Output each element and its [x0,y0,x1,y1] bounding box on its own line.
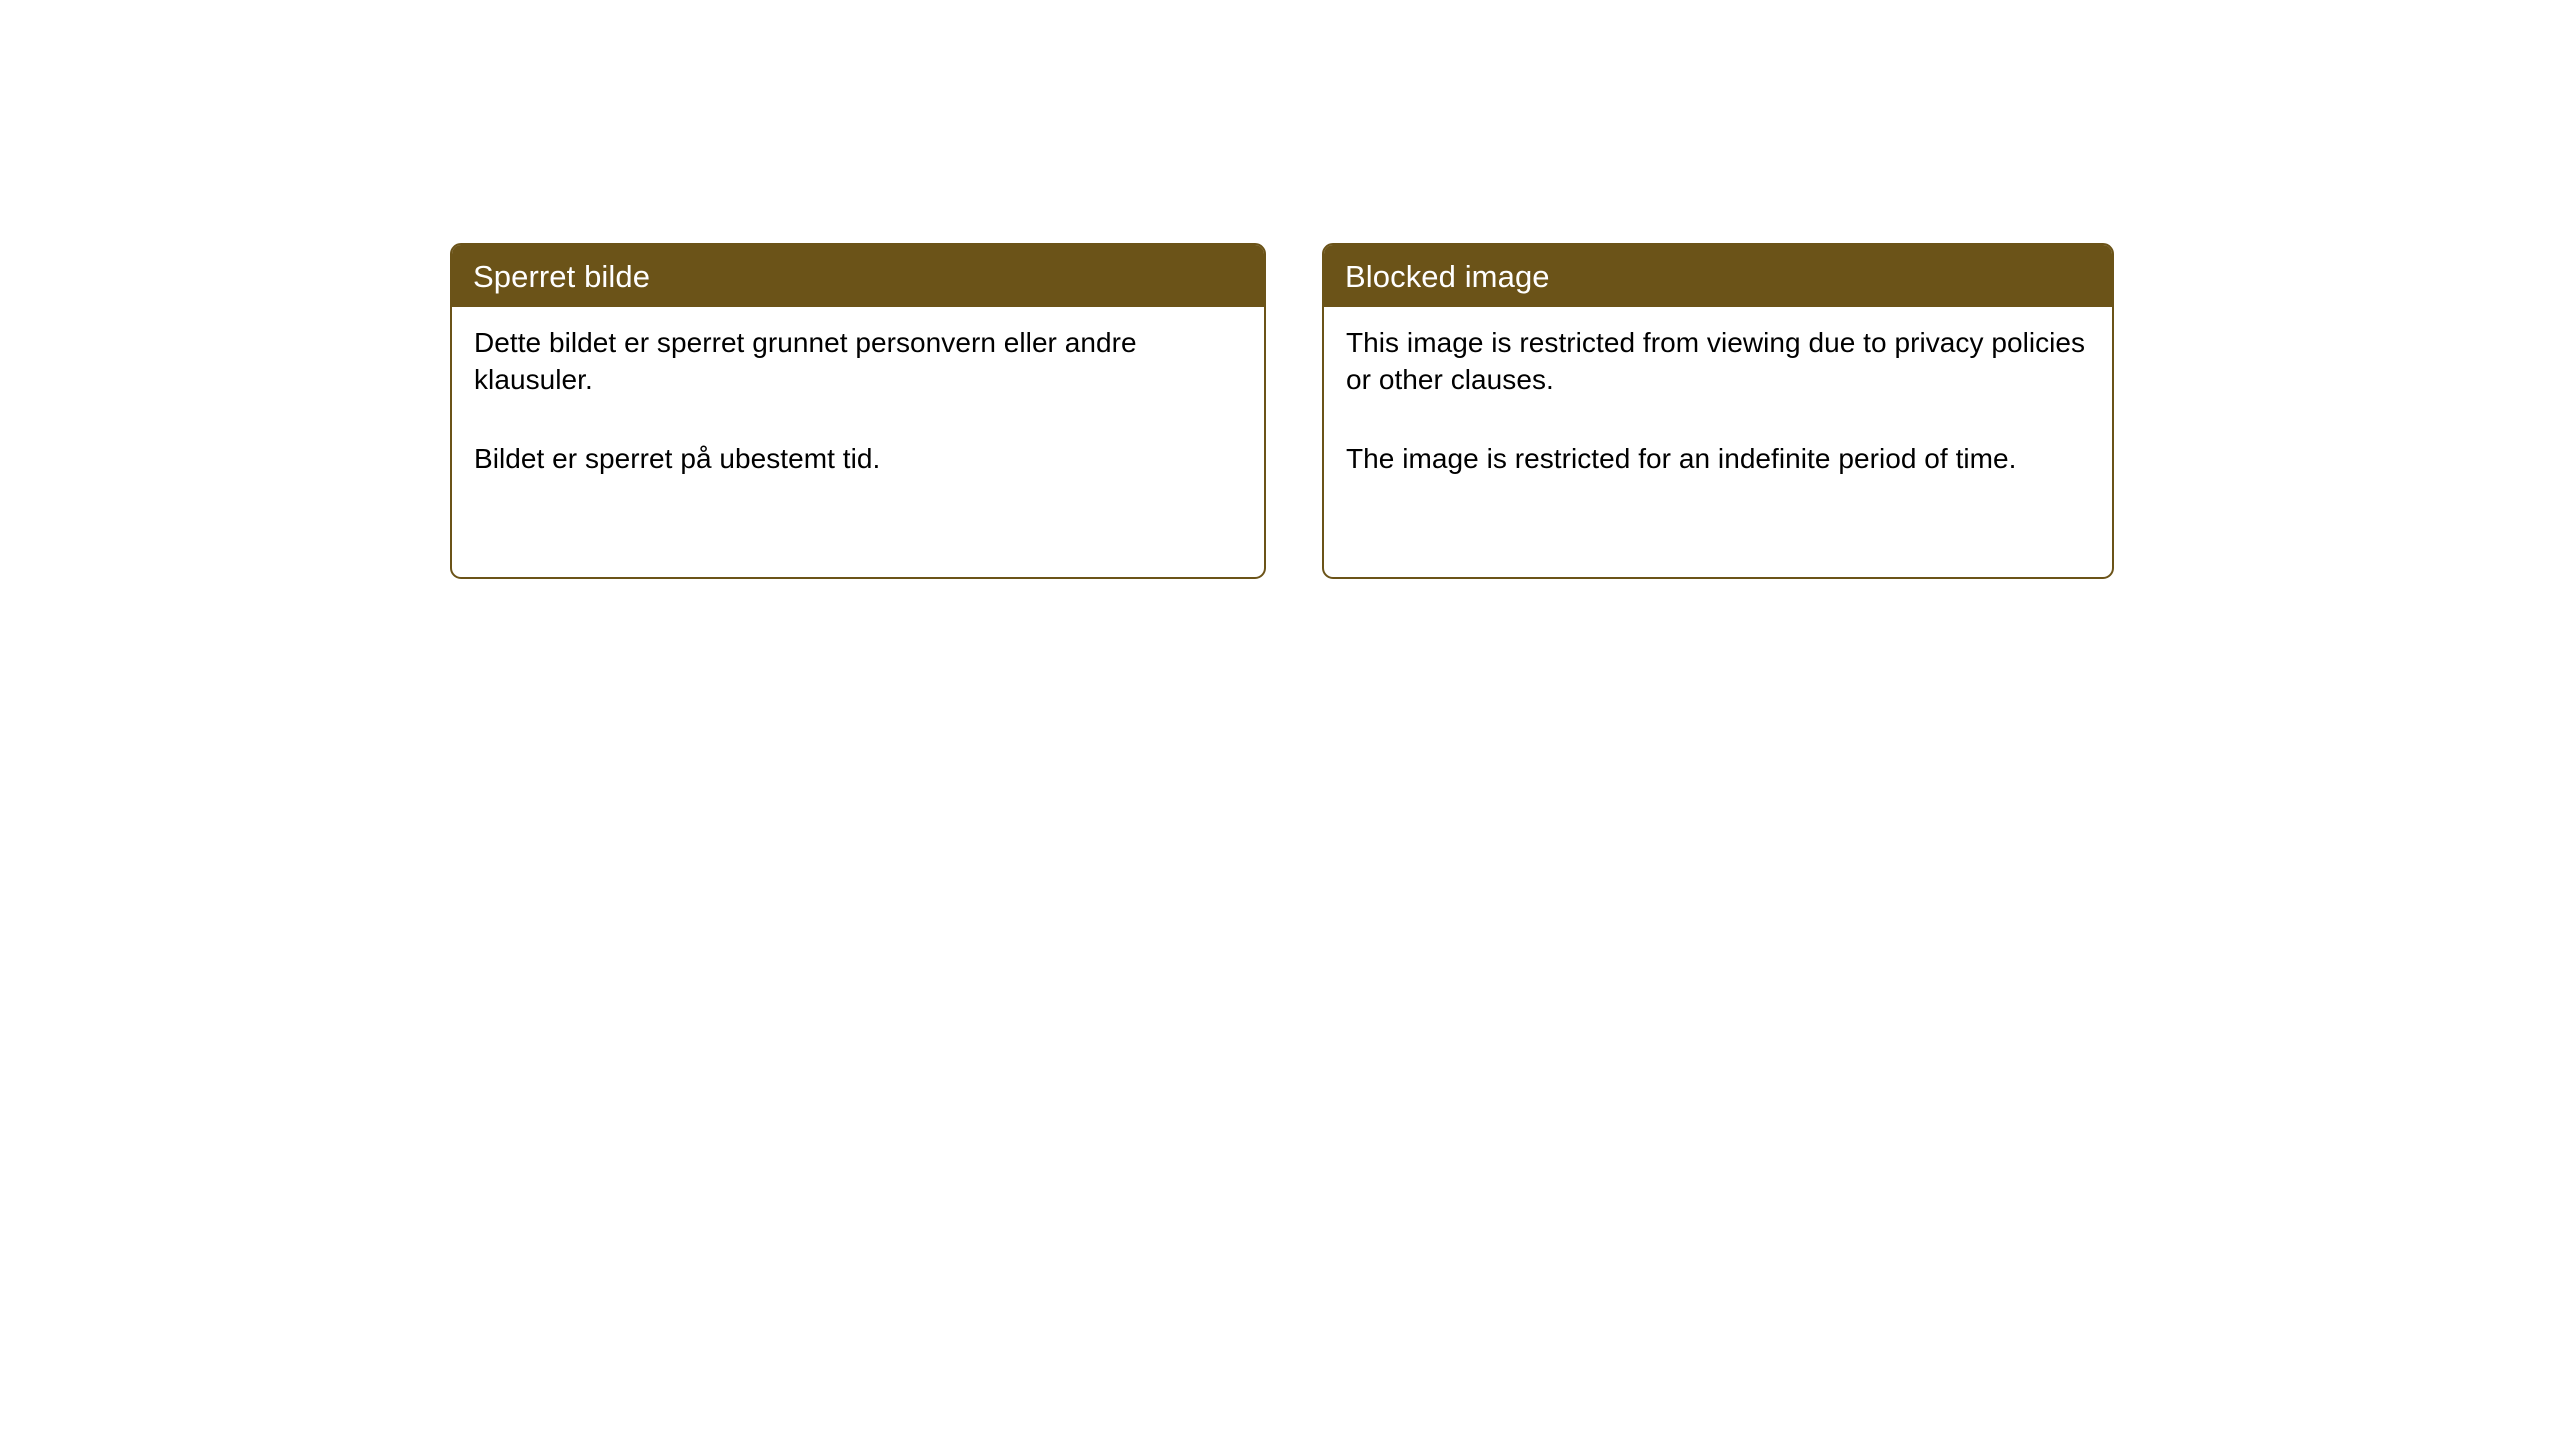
card-title-english: Blocked image [1345,261,1550,292]
card-body-norwegian: Dette bildet er sperret grunnet personve… [452,307,1264,478]
card-title-norwegian: Sperret bilde [473,261,650,292]
blocked-image-card-norwegian: Sperret bilde Dette bildet er sperret gr… [450,243,1266,579]
card-paragraph-duration-english: The image is restricted for an indefinit… [1346,440,2090,477]
card-paragraph-duration-norwegian: Bildet er sperret på ubestemt tid. [474,440,1242,477]
notice-stage: Sperret bilde Dette bildet er sperret gr… [0,0,2560,1440]
card-header-norwegian: Sperret bilde [452,245,1264,307]
blocked-image-card-english: Blocked image This image is restricted f… [1322,243,2114,579]
card-body-english: This image is restricted from viewing du… [1324,307,2112,478]
card-paragraph-reason-norwegian: Dette bildet er sperret grunnet personve… [474,324,1242,398]
card-paragraph-reason-english: This image is restricted from viewing du… [1346,324,2090,398]
card-header-english: Blocked image [1324,245,2112,307]
